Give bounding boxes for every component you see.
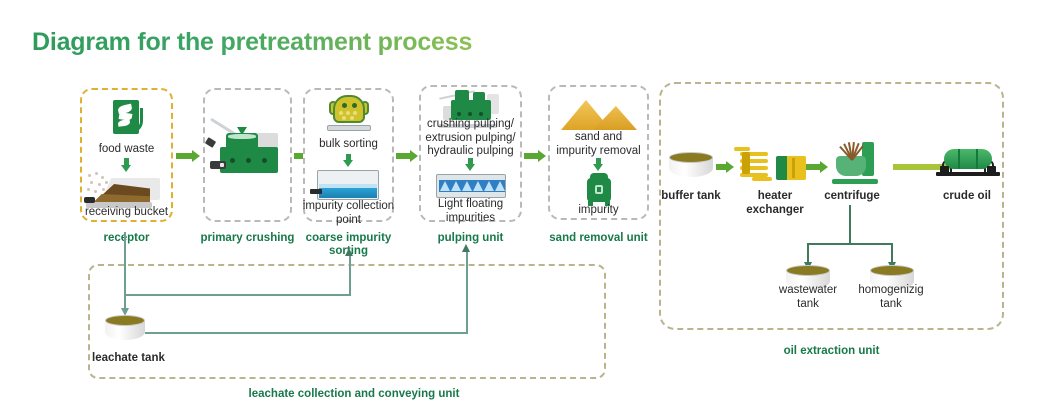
food-waste-bag-icon	[113, 100, 139, 134]
node-label-heater-exchanger: heater exchanger	[735, 190, 815, 217]
arrowhead-up-icon	[462, 244, 470, 252]
stage-item-text: food waste	[80, 143, 173, 157]
crude-oil-tanker-icon	[936, 146, 1000, 176]
impurity-bin-icon	[585, 172, 613, 206]
stage-item-text: bulk sorting	[303, 138, 394, 152]
return-line-2-v	[466, 252, 468, 333]
unit-label-primary-crushing: primary crushing	[196, 232, 299, 245]
leachate-tank-label: leachate tank	[92, 352, 212, 366]
stage-item-text: Light floating impurities	[419, 198, 522, 225]
flow-arrow-icon	[176, 150, 200, 162]
centrifuge-icon	[832, 140, 882, 184]
stage-item-text: sand and impurity removal	[546, 131, 651, 158]
return-line-2-h	[145, 332, 468, 334]
buffer-tank-icon	[669, 152, 713, 180]
down-arrow-icon	[593, 158, 604, 171]
node-label-wastewater-tank: wastewater tank	[776, 284, 840, 311]
down-arrow-icon	[121, 158, 132, 172]
centrifuge-split-bar	[807, 243, 893, 245]
sand-pile-icon	[561, 94, 637, 130]
crusher-machine-icon	[210, 125, 286, 181]
unit-label-leachate: leachate collection and conveying unit	[224, 388, 484, 401]
page-title: Diagram for the pretreatment process	[32, 28, 472, 57]
bulk-sorting-machine-icon	[327, 93, 371, 131]
split-branch-right	[891, 243, 893, 262]
leachate-inlet-line	[124, 232, 126, 310]
node-label-crude-oil: crude oil	[930, 190, 1004, 204]
stage-item-text: receiving bucket	[78, 206, 175, 220]
unit-label-sand-removal-unit: sand removal unit	[540, 232, 657, 245]
node-label-buffer-tank: buffer tank	[655, 190, 727, 204]
down-arrow-icon	[343, 154, 354, 167]
receiving-bucket-icon	[84, 172, 162, 208]
diagram-canvas: Diagram for the pretreatment process foo…	[0, 0, 1059, 404]
heat-exchanger-coil-icon	[736, 146, 776, 180]
heater-box-icon	[776, 156, 806, 180]
unit-label-oil-extraction: oil extraction unit	[739, 345, 924, 358]
unit-label-pulping-unit: pulping unit	[419, 232, 522, 245]
stage-item-text: crushing pulping/ extrusion pulping/ hyd…	[417, 118, 524, 159]
flow-arrow-icon	[524, 150, 546, 162]
return-line-1-v	[349, 256, 351, 295]
flow-arrow-icon	[806, 161, 828, 173]
stage-item-text: impurity collection point	[300, 200, 397, 227]
return-line-1-h	[124, 294, 351, 296]
stage-item-text: impurity	[548, 204, 649, 218]
floating-impurities-belt-icon	[436, 174, 506, 198]
down-arrow-icon	[465, 158, 476, 171]
node-label-centrifuge: centrifuge	[812, 190, 892, 204]
flow-arrow-icon	[396, 150, 418, 162]
flow-arrow-icon	[716, 161, 734, 173]
impurity-collection-tank-icon	[317, 170, 379, 200]
leachate-tank-icon	[105, 315, 145, 341]
split-branch-left	[807, 243, 809, 262]
node-label-homogenizing-tank: homogenizig tank	[850, 284, 932, 311]
unit-label-receptor: receptor	[80, 232, 173, 245]
centrifuge-split-stem	[849, 205, 851, 243]
arrowhead-up-icon	[345, 248, 353, 256]
